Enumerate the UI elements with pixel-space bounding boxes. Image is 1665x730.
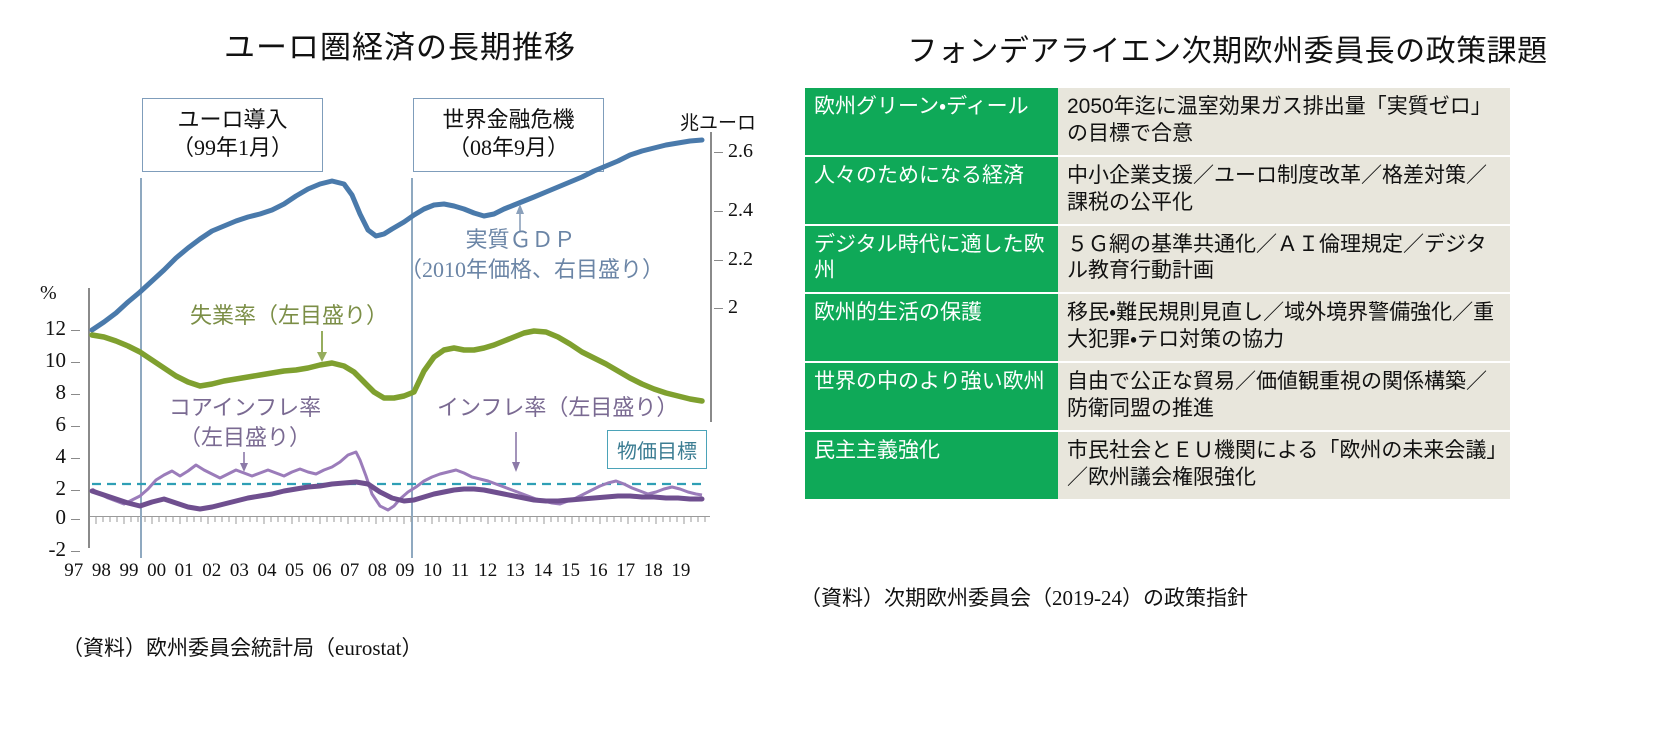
series-core-inflation: [92, 482, 702, 509]
series-unemployment: [92, 331, 702, 401]
chart-panel: ユーロ圏経済の長期推移 % 兆ユーロ 12 10 8 6 4 2 0 -2 2.…: [0, 0, 800, 730]
x-tick-07: 07: [336, 560, 364, 582]
agenda-topic: 世界の中のより強い欧州: [805, 362, 1058, 431]
table-row: 世界の中のより強い欧州 自由で公正な貿易／価値観重視の関係構築／防衛同盟の推進: [805, 362, 1510, 431]
x-tick-04: 04: [253, 560, 281, 582]
x-tick-05: 05: [281, 560, 309, 582]
agenda-detail: ５Ｇ網の基準共通化／ＡＩ倫理規定／デジタル教育行動計画: [1058, 225, 1510, 294]
x-tick-17: 17: [612, 560, 640, 582]
price-target-label: 物価目標: [607, 430, 707, 469]
table-row: 欧州グリーン・ディール 2050年迄に温室効果ガス排出量「実質ゼロ」の目標で合意: [805, 88, 1510, 156]
x-tick-18: 18: [639, 560, 667, 582]
x-tick-09: 09: [391, 560, 419, 582]
table-row: デジタル時代に適した欧州 ５Ｇ網の基準共通化／ＡＩ倫理規定／デジタル教育行動計画: [805, 225, 1510, 294]
table-row: 欧州的生活の保護 移民・難民規則見直し／域外境界警備強化／重大犯罪・テロ対策の協…: [805, 293, 1510, 362]
agenda-table: 欧州グリーン・ディール 2050年迄に温室効果ガス排出量「実質ゼロ」の目標で合意…: [805, 88, 1510, 501]
arrow-core-inflation: [240, 452, 248, 472]
x-tick-12: 12: [474, 560, 502, 582]
agenda-detail: 中小企業支援／ユーロ制度改革／格差対策／課税の公平化: [1058, 156, 1510, 225]
agenda-title: フォンデアライエン次期欧州委員長の政策課題: [800, 26, 1655, 70]
table-row: 民主主義強化 市民社会とＥＵ機関による「欧州の未来会議」／欧州議会権限強化: [805, 431, 1510, 500]
x-minor-ticks: [96, 516, 705, 524]
x-tick-15: 15: [557, 560, 585, 582]
infographic-page: ユーロ圏経済の長期推移 % 兆ユーロ 12 10 8 6 4 2 0 -2 2.…: [0, 0, 1665, 730]
x-tick-08: 08: [364, 560, 392, 582]
x-tick-13: 13: [502, 560, 530, 582]
x-tick-16: 16: [584, 560, 612, 582]
x-tick-01: 01: [170, 560, 198, 582]
table-row: 人々のためになる経済 中小企業支援／ユーロ制度改革／格差対策／課税の公平化: [805, 156, 1510, 225]
x-tick-97: 97: [60, 560, 88, 582]
x-tick-03: 03: [226, 560, 254, 582]
annotation-real-gdp-line1: 実質ＧＤＰ: [418, 226, 623, 255]
x-tick-19: 19: [667, 560, 695, 582]
annotation-core-inflation-line1: コアインフレ率: [150, 394, 340, 423]
agenda-topic: 人々のためになる経済: [805, 156, 1058, 225]
x-tick-00: 00: [143, 560, 171, 582]
x-tick-98: 98: [88, 560, 116, 582]
agenda-detail: 市民社会とＥＵ機関による「欧州の未来会議」／欧州議会権限強化: [1058, 431, 1510, 500]
annotation-core-inflation-line2: （左目盛り）: [150, 424, 340, 453]
chart-plot: [0, 0, 800, 730]
agenda-topic: 欧州的生活の保護: [805, 293, 1058, 362]
x-axis-labels: 97 98 99 00 01 02 03 04 05 06 07 08 09 1…: [60, 560, 760, 582]
x-tick-11: 11: [446, 560, 474, 582]
arrow-unemployment: [317, 331, 327, 362]
agenda-topic: 民主主義強化: [805, 431, 1058, 500]
annotation-unemployment: 失業率（左目盛り）: [190, 302, 388, 331]
agenda-detail: 2050年迄に温室効果ガス排出量「実質ゼロ」の目標で合意: [1058, 88, 1510, 156]
annotation-real-gdp-line2: （2010年価格、右目盛り）: [400, 256, 645, 285]
x-tick-02: 02: [198, 560, 226, 582]
x-tick-10: 10: [419, 560, 447, 582]
agenda-detail: 移民・難民規則見直し／域外境界警備強化／重大犯罪・テロ対策の協力: [1058, 293, 1510, 362]
annotation-inflation: インフレ率（左目盛り）: [437, 394, 678, 423]
agenda-panel: フォンデアライエン次期欧州委員長の政策課題 欧州グリーン・ディール 2050年迄…: [800, 0, 1665, 730]
agenda-topic: デジタル時代に適した欧州: [805, 225, 1058, 294]
x-tick-06: 06: [308, 560, 336, 582]
agenda-source-note: （資料）次期欧州委員会（2019-24）の政策指針: [800, 582, 1248, 612]
agenda-detail: 自由で公正な貿易／価値観重視の関係構築／防衛同盟の推進: [1058, 362, 1510, 431]
arrow-inflation: [512, 432, 520, 472]
x-tick-99: 99: [115, 560, 143, 582]
x-tick-14: 14: [529, 560, 557, 582]
chart-source-note: （資料）欧州委員会統計局（eurostat）: [62, 632, 422, 662]
agenda-topic: 欧州グリーン・ディール: [805, 88, 1058, 156]
